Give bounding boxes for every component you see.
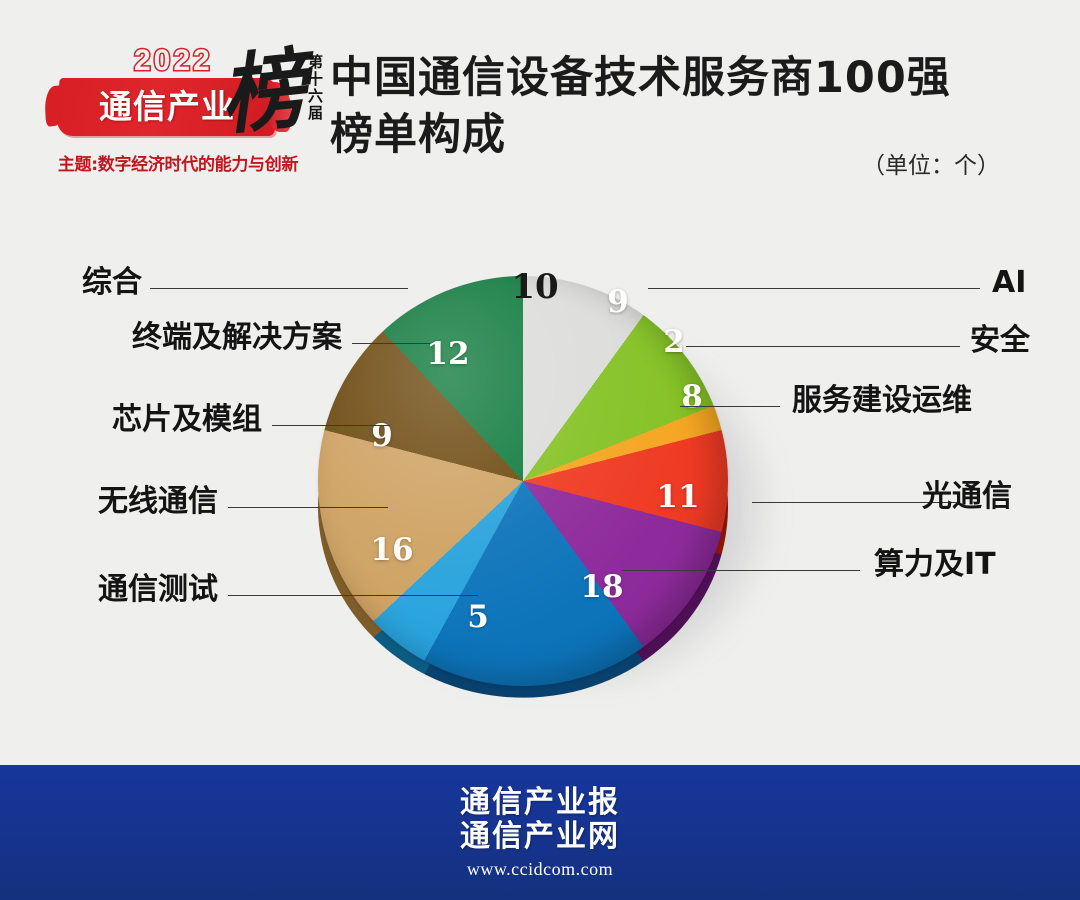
unit-note: （单位：个） bbox=[862, 146, 1000, 180]
slice-value-anquan: 2 bbox=[663, 324, 685, 360]
pie-graphic: 10 9 2 8 11 18 5 16 9 12 bbox=[300, 232, 770, 702]
logo-calligraphy: 榜 bbox=[216, 46, 311, 141]
pie-chart: 10 9 2 8 11 18 5 16 9 12 综合 终端及解决方案 芯片及模… bbox=[0, 210, 1080, 765]
label-zhongduan: 终端及解决方案 bbox=[20, 320, 342, 356]
label-suanli: 算力及IT bbox=[874, 547, 1072, 583]
label-wuxian: 无线通信 bbox=[20, 484, 218, 520]
footer-brand-paper: 通信产业报 bbox=[460, 786, 620, 820]
footer-brand-web: 通信产业网 bbox=[460, 820, 620, 854]
label-zonghe: 综合 bbox=[20, 265, 142, 301]
logo-subtitle: 主题:数字经济时代的能力与创新 bbox=[44, 150, 312, 175]
slice-value-xinpian: 9 bbox=[371, 418, 393, 454]
logo-year: 2022 bbox=[134, 44, 213, 78]
slice-value-fuwu: 8 bbox=[681, 379, 703, 415]
logo-edition: 第十六届 bbox=[300, 54, 324, 122]
label-xinpian: 芯片及模组 bbox=[20, 402, 262, 438]
leader-line-ai bbox=[648, 288, 980, 289]
event-logo: 2022 通信产业 榜 第十六届 主题:数字经济时代的能力与创新 bbox=[42, 44, 312, 184]
slice-value-wuxian: 16 bbox=[370, 532, 413, 568]
label-ceshi: 通信测试 bbox=[20, 572, 218, 608]
leader-line-anquan bbox=[686, 346, 960, 347]
leader-line-suanli bbox=[622, 570, 860, 571]
leader-line-wuxian bbox=[228, 507, 388, 508]
slice-value-ceshi: 5 bbox=[467, 599, 489, 635]
label-fuwu: 服务建设运维 bbox=[792, 383, 1072, 419]
footer-url[interactable]: www.ccidcom.com bbox=[467, 859, 613, 880]
slice-value-zonghe: 10 bbox=[511, 267, 558, 307]
leader-line-fuwu bbox=[680, 406, 780, 407]
slice-value-zhongduan: 12 bbox=[426, 336, 469, 372]
leader-line-zonghe bbox=[150, 288, 408, 289]
leader-line-xinpian bbox=[272, 425, 390, 426]
label-anquan: 安全 bbox=[970, 323, 1072, 359]
slice-value-suanli: 18 bbox=[580, 569, 623, 605]
label-guang: 光通信 bbox=[922, 479, 1072, 515]
leader-line-zhongduan bbox=[352, 343, 430, 344]
header: 2022 通信产业 榜 第十六届 主题:数字经济时代的能力与创新 中国通信设备技… bbox=[0, 0, 1080, 210]
leader-line-ceshi bbox=[228, 595, 478, 596]
slice-value-ai: 9 bbox=[607, 284, 629, 320]
footer: 通信产业报 通信产业网 www.ccidcom.com bbox=[0, 765, 1080, 900]
label-ai: AI bbox=[992, 265, 1072, 301]
slice-value-guang: 11 bbox=[656, 479, 699, 515]
